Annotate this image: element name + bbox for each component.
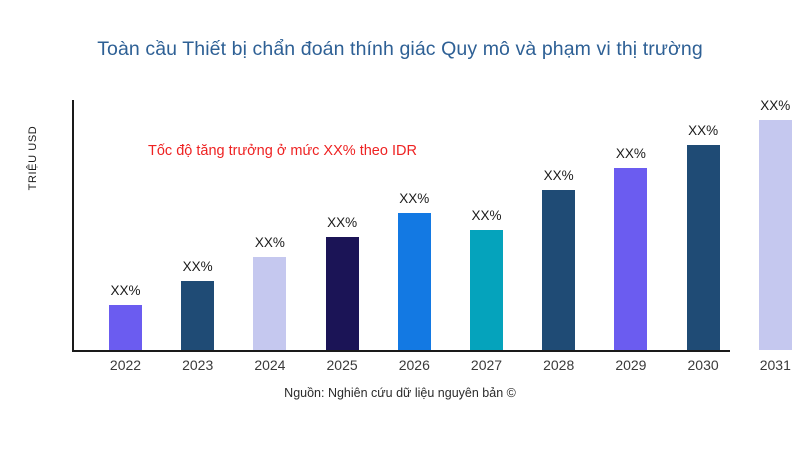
bar-2026[interactable] [398,213,431,350]
source-note: Nguồn: Nghiên cứu dữ liệu nguyên bản © [0,386,800,400]
x-tick-2025: 2025 [310,357,374,373]
x-tick-2031: 2031 [743,357,800,373]
bar-2028[interactable] [542,190,575,350]
plot-area: XX%2022XX%2023XX%2024XX%2025XX%2026XX%20… [0,0,800,450]
bar-2031[interactable] [759,120,792,350]
x-tick-2024: 2024 [238,357,302,373]
bar-value-label-2031: XX% [743,98,800,113]
bar-2023[interactable] [181,281,214,350]
x-tick-2028: 2028 [527,357,591,373]
bar-value-label-2022: XX% [94,283,158,298]
bar-value-label-2026: XX% [382,191,446,206]
x-tick-2027: 2027 [455,357,519,373]
bar-2025[interactable] [326,237,359,350]
bar-chart: Toàn cầu Thiết bị chẩn đoán thính giác Q… [0,0,800,450]
bar-2027[interactable] [470,230,503,350]
x-tick-2029: 2029 [599,357,663,373]
bar-value-label-2028: XX% [527,168,591,183]
bar-2022[interactable] [109,305,142,350]
bar-value-label-2025: XX% [310,215,374,230]
bar-value-label-2023: XX% [166,259,230,274]
x-tick-2030: 2030 [671,357,735,373]
bar-value-label-2030: XX% [671,123,735,138]
bar-value-label-2027: XX% [455,208,519,223]
bar-2024[interactable] [253,257,286,350]
bar-2030[interactable] [687,145,720,350]
x-tick-2022: 2022 [94,357,158,373]
x-tick-2026: 2026 [382,357,446,373]
x-tick-2023: 2023 [166,357,230,373]
bar-value-label-2029: XX% [599,146,663,161]
bar-2029[interactable] [614,168,647,350]
bar-value-label-2024: XX% [238,235,302,250]
